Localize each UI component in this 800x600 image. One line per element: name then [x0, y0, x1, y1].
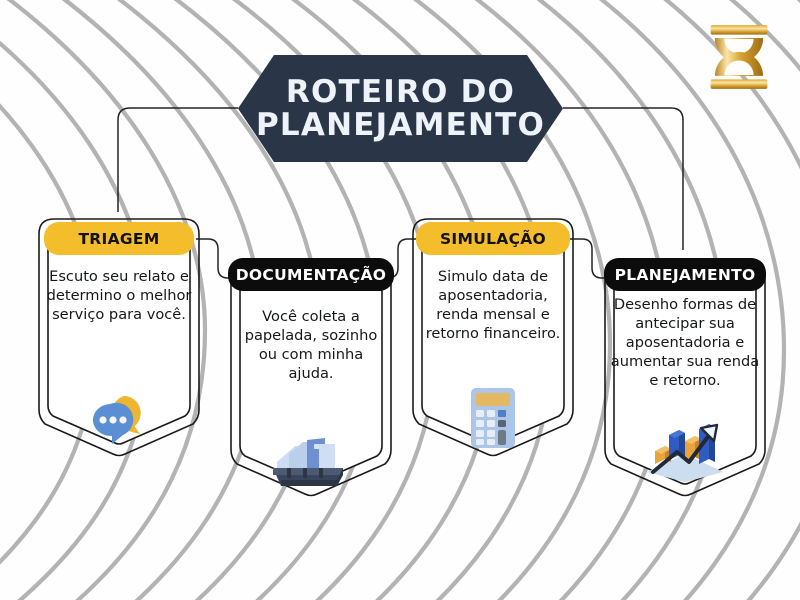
step-pill-simulacao[interactable]: SIMULAÇÃO	[416, 222, 570, 255]
step-pill-triagem[interactable]: TRIAGEM	[44, 222, 194, 255]
page-title-line-2: PLANEJAMENTO	[256, 109, 545, 142]
step-body-text: Escuto seu relato e determino o melhor s…	[42, 268, 196, 325]
calculator-icon	[404, 388, 582, 450]
page-title-line-1: ROTEIRO DO	[286, 76, 515, 109]
step-body-text: Simulo data de aposentadoria, renda mens…	[416, 268, 570, 344]
document-organizer-icon	[222, 428, 400, 490]
step-body-text: Você coleta a papelada, sozinho ou com m…	[234, 308, 388, 384]
bar-chart-growth-icon	[596, 418, 774, 484]
step-label: PLANEJAMENTO	[615, 266, 756, 284]
step-label: SIMULAÇÃO	[440, 230, 546, 248]
hourglass-logo	[696, 14, 782, 100]
step-label: TRIAGEM	[78, 230, 159, 248]
speech-bubbles-icon	[30, 390, 208, 446]
step-label: DOCUMENTAÇÃO	[236, 266, 387, 284]
infographic-canvas: ROTEIRO DO PLANEJAMENTO	[0, 0, 800, 600]
step-body-text: Desenho formas de antecipar sua aposenta…	[608, 296, 762, 391]
step-pill-documentacao[interactable]: DOCUMENTAÇÃO	[228, 258, 394, 291]
page-title-banner: ROTEIRO DO PLANEJAMENTO	[238, 55, 563, 162]
step-pill-planejamento[interactable]: PLANEJAMENTO	[604, 258, 766, 291]
